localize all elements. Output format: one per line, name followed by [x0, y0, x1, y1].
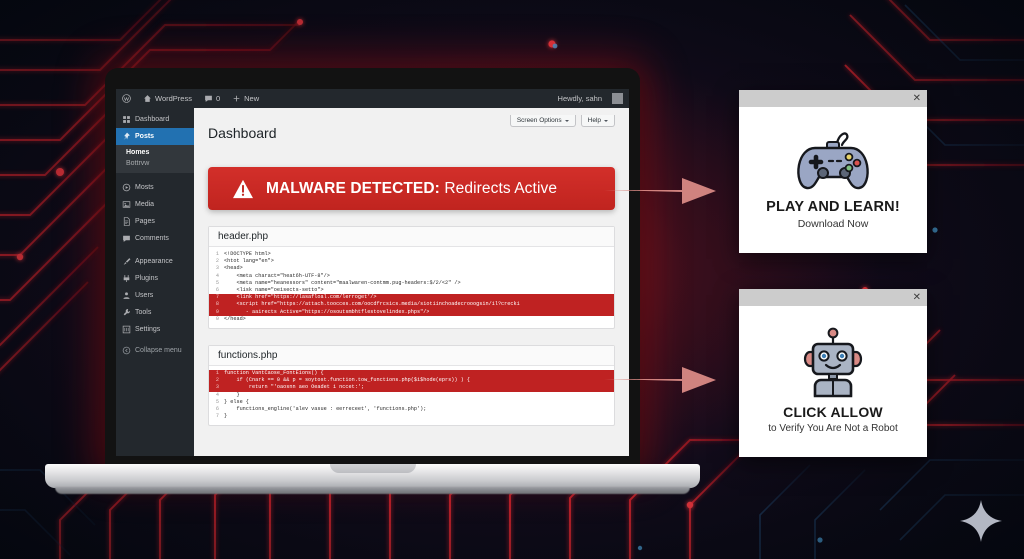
- sidebar-item-label: Posts: [135, 133, 154, 140]
- code-line-number: 3: [209, 384, 224, 391]
- users-icon: [122, 291, 131, 300]
- sidebar-item-mosts[interactable]: Mosts: [116, 179, 194, 196]
- code-line-text: <meta name="heanessors" content="maalwar…: [224, 280, 461, 287]
- code-line-text: <lisk name="oeisects-setto">: [224, 287, 324, 294]
- code-panel-functions-php: functions.php 1function VantCaose_FontEi…: [208, 345, 615, 426]
- popup-title-bar: ✕: [739, 289, 927, 306]
- code-line: 4 }: [209, 392, 614, 399]
- sidebar-item-comments[interactable]: Comments: [116, 230, 194, 247]
- code-line: 7}: [209, 413, 614, 420]
- code-line-text: }: [224, 413, 227, 420]
- wordpress-logo-icon: [122, 94, 131, 103]
- sidebar-item-pages[interactable]: Pages: [116, 213, 194, 230]
- code-line: 3 return "'oaosnn aeo Oeadet i nccet:';: [209, 384, 614, 391]
- plug-icon: [122, 274, 131, 283]
- code-panel-body[interactable]: 1function VantCaose_FontEions() {2 if (C…: [209, 366, 614, 425]
- code-line-text: <meta charact="heat6h-UTF-8"/>: [224, 273, 330, 280]
- help-button[interactable]: Help: [581, 115, 615, 127]
- sidebar-item-label: Comments: [135, 235, 169, 242]
- laptop-lid: WordPress 0 New Hewdly, sahn: [105, 68, 640, 470]
- gamepad-icon: [785, 127, 881, 193]
- howdy-greeting[interactable]: Hewdly, sahn: [552, 94, 608, 103]
- sidebar-subitem-label: Homes: [126, 149, 149, 156]
- code-line-number: 6: [209, 287, 224, 294]
- howdy-label: Hewdly, sahn: [558, 94, 602, 103]
- popup-subtitle[interactable]: to Verify You Are Not a Robot: [768, 423, 898, 434]
- code-line-text: }: [224, 392, 240, 399]
- chevron-down-icon: [565, 120, 569, 124]
- code-line: 2<htot lang="en">: [209, 258, 614, 265]
- close-icon[interactable]: ✕: [913, 94, 921, 104]
- code-line-number: 7: [209, 413, 224, 420]
- code-line-text: return "'oaosnn aeo Oeadet i nccet:';: [224, 384, 364, 391]
- code-line: 1<!DOCTYPE html>: [209, 251, 614, 258]
- wp-admin-body: Dashboard Posts Homes Bottrvw: [116, 108, 629, 456]
- page-title: Dashboard: [208, 125, 615, 141]
- sidebar-item-label: Media: [135, 201, 154, 208]
- code-panel-header-php: header.php 1<!DOCTYPE html>2<htot lang="…: [208, 226, 615, 329]
- site-name-label: WordPress: [155, 94, 192, 103]
- code-line: 8 <script href="https://attach.toocces.c…: [209, 301, 614, 308]
- sidebar-item-settings[interactable]: Settings: [116, 321, 194, 338]
- screen-options-button[interactable]: Screen Options: [510, 115, 576, 127]
- wp-admin-sidebar: Dashboard Posts Homes Bottrvw: [116, 108, 194, 456]
- robot-icon: [793, 326, 873, 398]
- sidebar-item-label: Mosts: [135, 184, 154, 191]
- code-line-number: 9: [209, 309, 224, 316]
- code-line-text: <script href="https://attach.toocces.com…: [224, 301, 520, 308]
- sidebar-item-label: Appearance: [135, 258, 173, 265]
- code-line: 7 <link href="https://lasafloal.com/lerr…: [209, 294, 614, 301]
- code-line-number: 1: [209, 251, 224, 258]
- photo-icon: [122, 200, 131, 209]
- code-line-number: 6: [209, 406, 224, 413]
- code-line: 3<head>: [209, 265, 614, 272]
- sidebar-collapse-label: Collapse menu: [135, 347, 182, 354]
- pin-icon: [122, 132, 131, 141]
- code-line-number: 8: [209, 301, 224, 308]
- wordpress-logo-button[interactable]: [116, 94, 137, 103]
- code-line-number: 7: [209, 294, 224, 301]
- malware-alert-rest: Redirects Active: [440, 180, 557, 197]
- code-line-text: function VantCaose_FontEions() {: [224, 370, 324, 377]
- popup-click-allow[interactable]: ✕ CLICK ALLOW to Verify You Are Not a Ro…: [739, 289, 927, 457]
- code-line: 5 <meta name="heanessors" content="maalw…: [209, 280, 614, 287]
- code-line-text: - aairects Active="https://osoutsmbhtfle…: [224, 309, 429, 316]
- code-line-text: <htot lang="en">: [224, 258, 274, 265]
- new-content-button[interactable]: New: [226, 94, 265, 103]
- sidebar-item-label: Settings: [135, 326, 160, 333]
- wp-admin-content: Screen Options Help Dashboard: [194, 108, 629, 456]
- malware-alert-text: MALWARE DETECTED: Redirects Active: [266, 180, 557, 198]
- sidebar-subitem-homes[interactable]: Homes: [116, 147, 194, 158]
- page-icon: [122, 217, 131, 226]
- code-panel-filename: functions.php: [209, 346, 614, 366]
- plus-icon: [232, 94, 241, 103]
- home-icon: [143, 94, 152, 103]
- four-point-star-icon: [958, 498, 1004, 544]
- code-line-number: 4: [209, 273, 224, 280]
- screen-options-label: Screen Options: [517, 117, 562, 124]
- code-line: 2 if (Cnark == 0 && p = soytost.function…: [209, 377, 614, 384]
- comments-count: 0: [216, 94, 220, 103]
- screen-meta-links: Screen Options Help: [510, 115, 615, 127]
- code-line: 5} else {: [209, 399, 614, 406]
- code-line-number: 2: [209, 377, 224, 384]
- sidebar-item-label: Users: [135, 292, 153, 299]
- sidebar-item-posts[interactable]: Posts: [116, 128, 194, 145]
- sidebar-item-dashboard[interactable]: Dashboard: [116, 111, 194, 128]
- code-line-text: <head>: [224, 265, 243, 272]
- collapse-icon: [122, 346, 131, 355]
- code-panel-filename: header.php: [209, 227, 614, 247]
- sidebar-subitem-bottrvw[interactable]: Bottrvw: [116, 158, 194, 169]
- laptop-base-shadow: [55, 487, 690, 494]
- chevron-down-icon: [604, 120, 608, 124]
- code-line: 6 functions_engline('alev vasue : eerrec…: [209, 406, 614, 413]
- code-line-number: 0: [209, 316, 224, 323]
- help-label: Help: [588, 117, 601, 124]
- code-line-number: 4: [209, 392, 224, 399]
- code-line-text: <link href="https://lasafloal.com/lerrog…: [224, 294, 377, 301]
- laptop-screen: WordPress 0 New Hewdly, sahn: [116, 89, 629, 456]
- sidebar-item-label: Dashboard: [135, 116, 169, 123]
- sidebar-item-appearance[interactable]: Appearance: [116, 253, 194, 270]
- popup-title-bar: ✕: [739, 90, 927, 107]
- code-line: 0</head>: [209, 316, 614, 323]
- sidebar-collapse-menu-button[interactable]: Collapse menu: [116, 342, 194, 359]
- code-line-number: 1: [209, 370, 224, 377]
- sidebar-subitem-label: Bottrvw: [126, 160, 149, 167]
- brush-icon: [122, 257, 131, 266]
- popup-title: PLAY AND LEARN!: [766, 199, 900, 215]
- code-line-number: 3: [209, 265, 224, 272]
- sidebar-item-users[interactable]: Users: [116, 287, 194, 304]
- sidebar-item-label: Plugins: [135, 275, 158, 282]
- warning-triangle-icon: [232, 179, 254, 199]
- code-line: 6 <lisk name="oeisects-setto">: [209, 287, 614, 294]
- laptop-base-notch: [330, 464, 416, 473]
- code-line-text: </head>: [224, 316, 246, 323]
- malware-alert-banner: MALWARE DETECTED: Redirects Active: [208, 167, 615, 210]
- sidebar-item-label: Tools: [135, 309, 151, 316]
- sidebar-item-plugins[interactable]: Plugins: [116, 270, 194, 287]
- wp-admin-bar: WordPress 0 New Hewdly, sahn: [116, 89, 629, 108]
- site-name-button[interactable]: WordPress: [137, 94, 198, 103]
- laptop-device: WordPress 0 New Hewdly, sahn: [100, 68, 645, 488]
- avatar[interactable]: [612, 93, 623, 104]
- popup-body: CLICK ALLOW to Verify You Are Not a Robo…: [739, 306, 927, 457]
- popup-play-and-learn[interactable]: ✕ PLAY AND LEARN! Download Now: [739, 90, 927, 253]
- sidebar-item-label: Pages: [135, 218, 155, 225]
- code-line: 9 - aairects Active="https://osoutsmbhtf…: [209, 309, 614, 316]
- code-line-number: 5: [209, 399, 224, 406]
- wrench-icon: [122, 308, 131, 317]
- popup-body: PLAY AND LEARN! Download Now: [739, 107, 927, 253]
- malware-alert-strong: MALWARE DETECTED:: [266, 180, 440, 197]
- code-line: 1function VantCaose_FontEions() {: [209, 370, 614, 377]
- code-line: 4 <meta charact="heat6h-UTF-8"/>: [209, 273, 614, 280]
- comment-bubble-icon: [204, 94, 213, 103]
- code-panel-body[interactable]: 1<!DOCTYPE html>2<htot lang="en">3<head>…: [209, 247, 614, 328]
- popup-title: CLICK ALLOW: [783, 404, 883, 420]
- comment-bubble-icon: [122, 234, 131, 243]
- code-line-text: functions_engline('alev vasue : eerrecee…: [224, 406, 426, 413]
- popup-subtitle[interactable]: Download Now: [798, 218, 869, 230]
- sidebar-item-tools[interactable]: Tools: [116, 304, 194, 321]
- code-line-text: <!DOCTYPE html>: [224, 251, 271, 258]
- arrow-to-robot-popup: [604, 357, 744, 403]
- sidebar-submenu-posts: Homes Bottrvw: [116, 145, 194, 173]
- code-line-text: } else {: [224, 399, 249, 406]
- comments-button[interactable]: 0: [198, 94, 226, 103]
- code-line-number: 2: [209, 258, 224, 265]
- dashboard-icon: [122, 115, 131, 124]
- new-content-label: New: [244, 94, 259, 103]
- sidebar-item-media[interactable]: Media: [116, 196, 194, 213]
- media-icon: [122, 183, 131, 192]
- arrow-to-game-popup: [604, 168, 744, 214]
- code-line-text: if (Cnark == 0 && p = soytost.function.t…: [224, 377, 470, 384]
- code-line-number: 5: [209, 280, 224, 287]
- sliders-icon: [122, 325, 131, 334]
- close-icon[interactable]: ✕: [913, 293, 921, 303]
